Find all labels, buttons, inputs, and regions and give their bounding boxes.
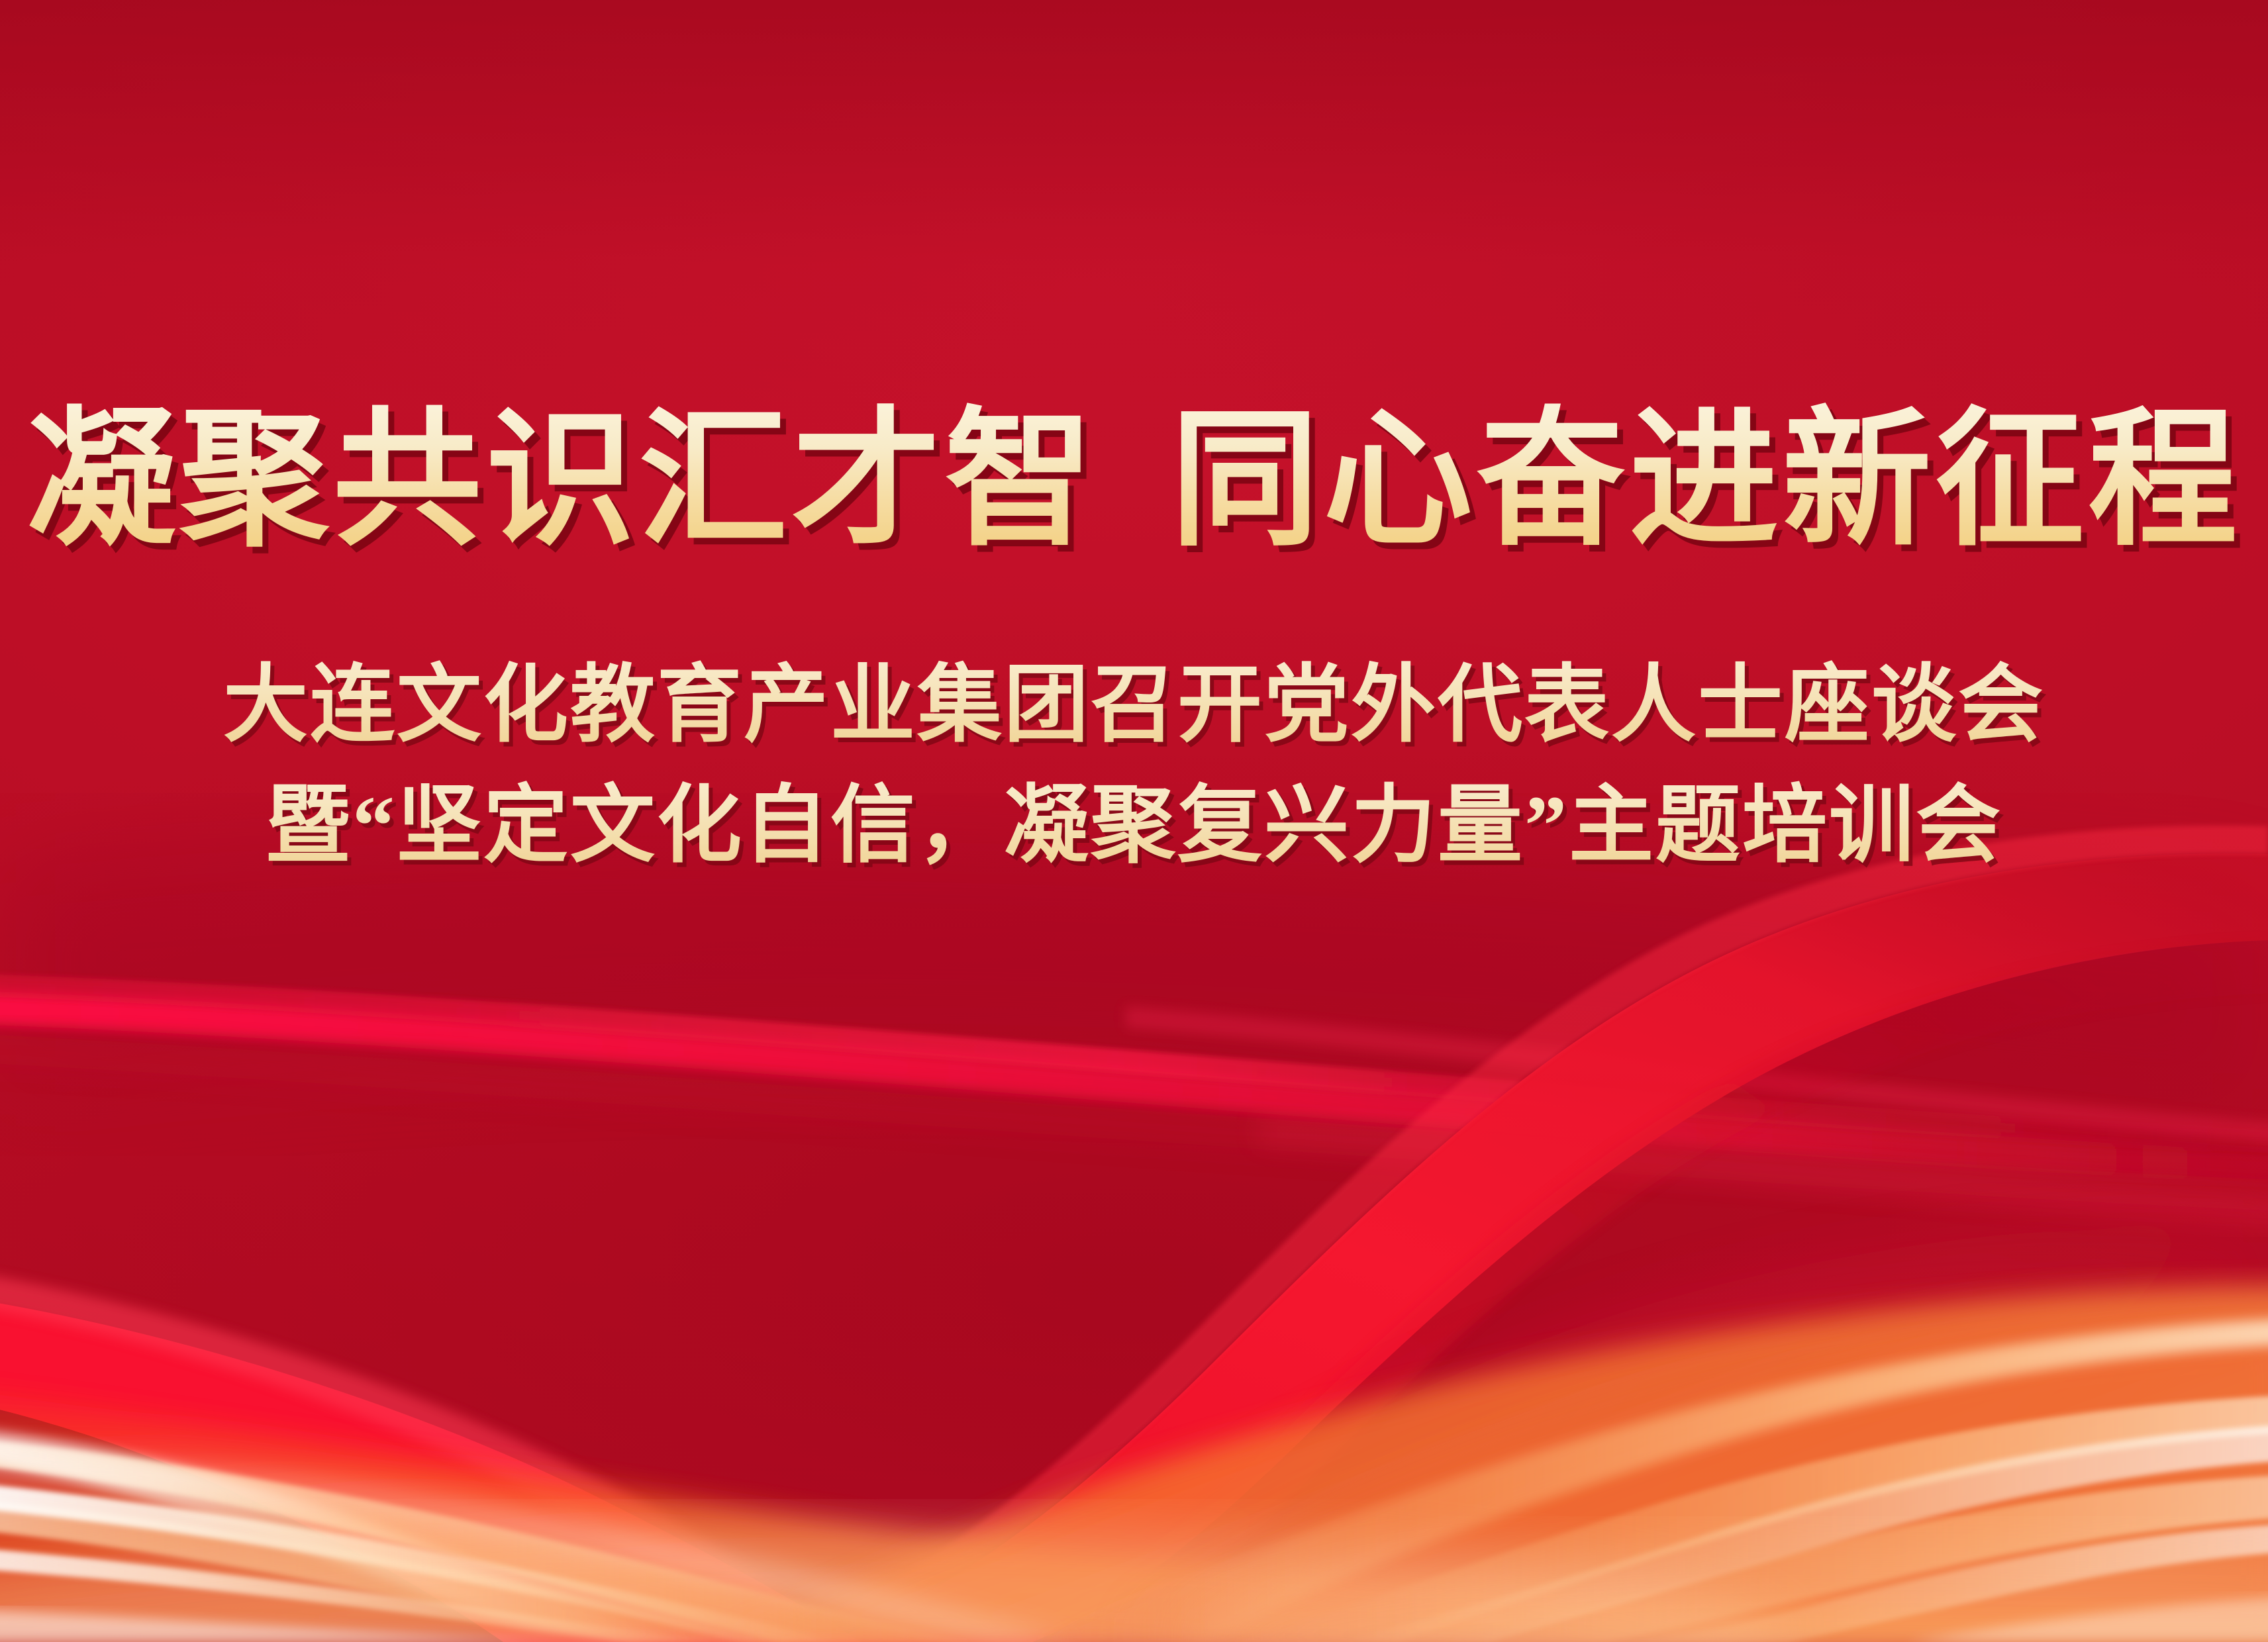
page-title: 凝聚共识汇才智同心奋进新征程 [0, 397, 2268, 564]
headline-part-2: 同心奋进新征程 [1171, 398, 2242, 563]
headline-part-1: 凝聚共识汇才智 [27, 398, 1098, 563]
poster-canvas: 凝聚共识汇才智同心奋进新征程 大连文化教育产业集团召开党外代表人士座谈会 暨“坚… [0, 0, 2268, 1642]
subtitle-line-1: 大连文化教育产业集团召开党外代表人士座谈会 [0, 646, 2268, 766]
page-subtitle: 大连文化教育产业集团召开党外代表人士座谈会 暨“坚定文化自信，凝聚复兴力量”主题… [0, 646, 2268, 887]
subtitle-line-2: 暨“坚定文化自信，凝聚复兴力量”主题培训会 [0, 766, 2268, 887]
poster-text-content: 凝聚共识汇才智同心奋进新征程 大连文化教育产业集团召开党外代表人士座谈会 暨“坚… [0, 0, 2268, 1642]
